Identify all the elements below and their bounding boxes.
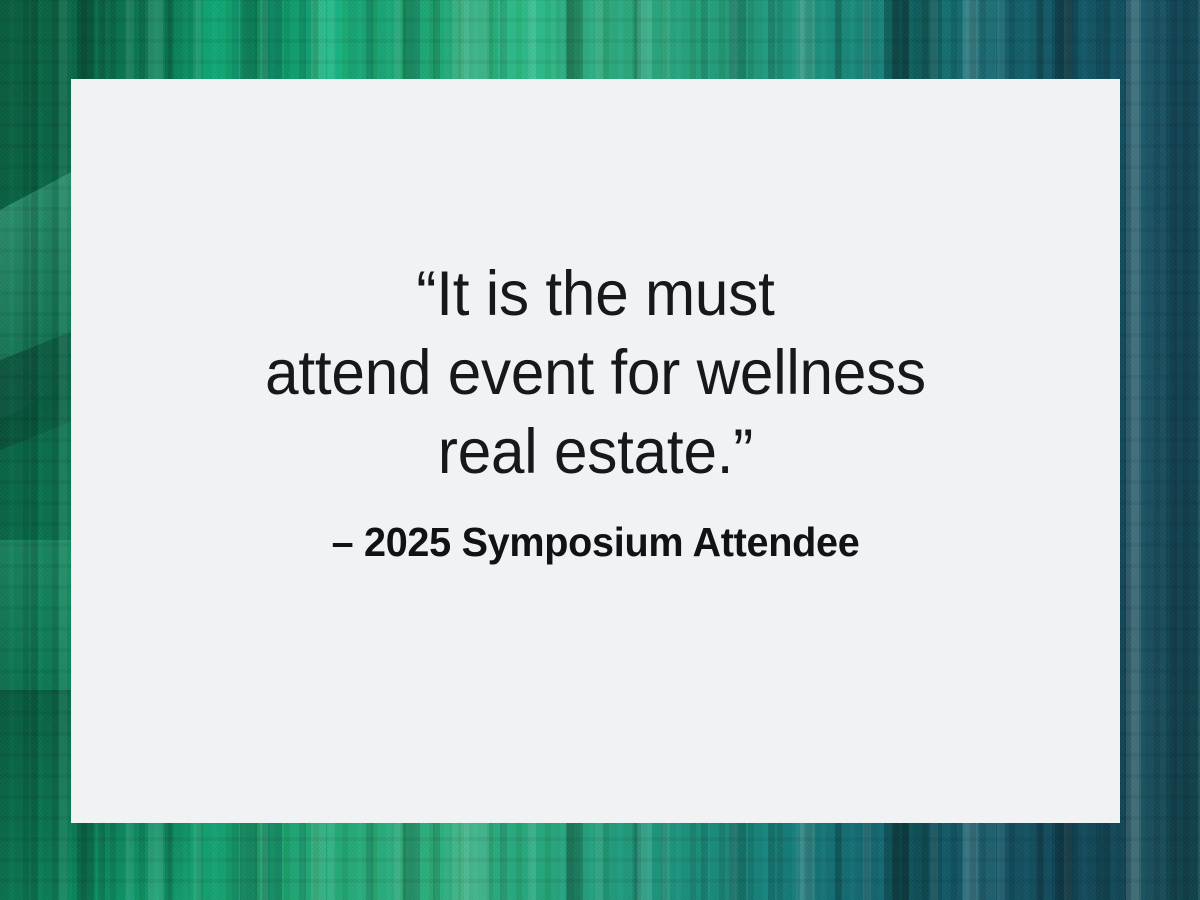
quote-card: “It is the must attend event for wellnes… [71,79,1120,823]
quote-attribution: – 2025 Symposium Attendee [128,518,1063,567]
quote-text: “It is the must attend event for wellnes… [133,255,1058,492]
slide-canvas: “It is the must attend event for wellnes… [0,0,1200,900]
